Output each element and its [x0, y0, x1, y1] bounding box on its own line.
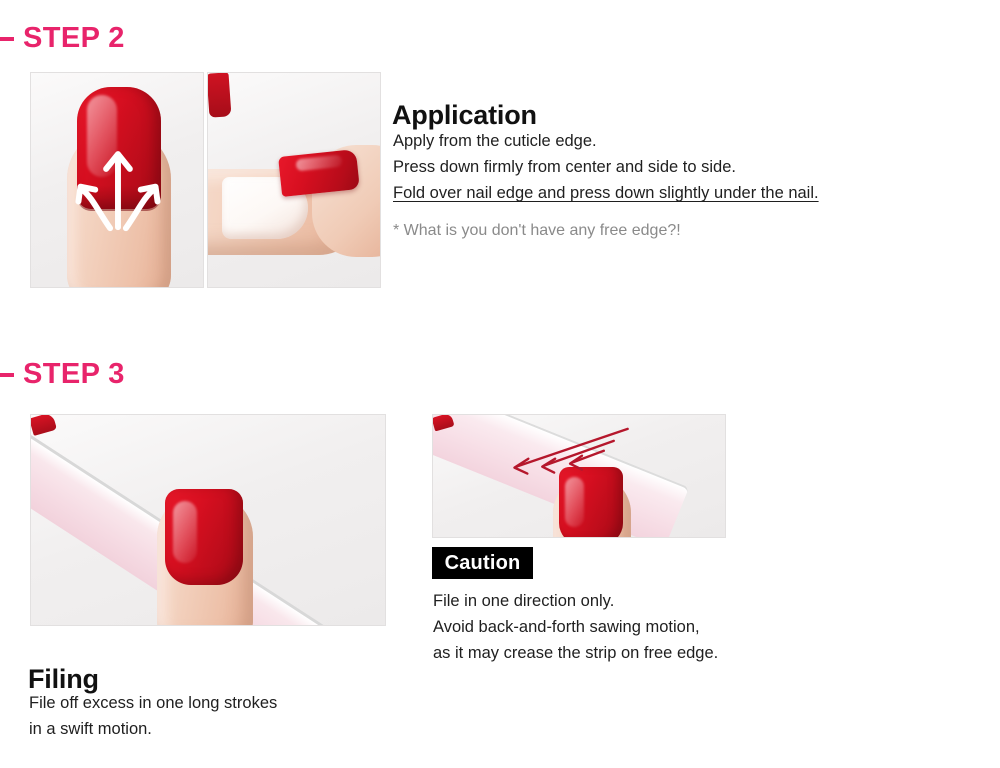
application-title: Application [392, 100, 537, 131]
step-2-label: STEP 2 [23, 22, 125, 55]
photo-filing-nail-with-file [30, 414, 386, 626]
application-note: * What is you don't have any free edge?! [393, 218, 681, 244]
step-2-header: STEP 2 [0, 22, 125, 55]
step-dash-icon [0, 373, 14, 377]
step-3-label: STEP 3 [23, 358, 125, 391]
application-body-line: Apply from the cuticle edge. [393, 128, 819, 154]
filing-body-line: File off excess in one long strokes [29, 690, 277, 716]
caution-body-line: as it may crease the strip on free edge. [433, 640, 718, 666]
application-body-line: Press down firmly from center and side t… [393, 154, 819, 180]
photo-nail-front-with-arrows [30, 72, 204, 288]
caution-badge: Caution [432, 547, 533, 579]
caution-body-line: File in one direction only. [433, 588, 718, 614]
press-direction-arrows-icon [31, 73, 203, 287]
step-dash-icon [0, 37, 14, 41]
application-note-line: * What is you don't have any free edge?! [393, 218, 681, 244]
filing-body-line: in a swift motion. [29, 716, 277, 742]
nail-gloss-highlight [173, 501, 197, 563]
step-3-header: STEP 3 [0, 358, 125, 391]
application-body: Apply from the cuticle edge. Press down … [393, 128, 819, 206]
photo-filing-direction-arrows [432, 414, 726, 538]
photo-nail-side-fold-over-edge [207, 72, 381, 288]
file-direction-arrows-icon [433, 415, 725, 538]
strip-folded-edge [207, 72, 232, 117]
application-body-line-underlined: Fold over nail edge and press down sligh… [393, 180, 819, 206]
filing-body: File off excess in one long strokes in a… [29, 690, 277, 742]
caution-body-line: Avoid back-and-forth sawing motion, [433, 614, 718, 640]
caution-body: File in one direction only. Avoid back-a… [433, 588, 718, 666]
